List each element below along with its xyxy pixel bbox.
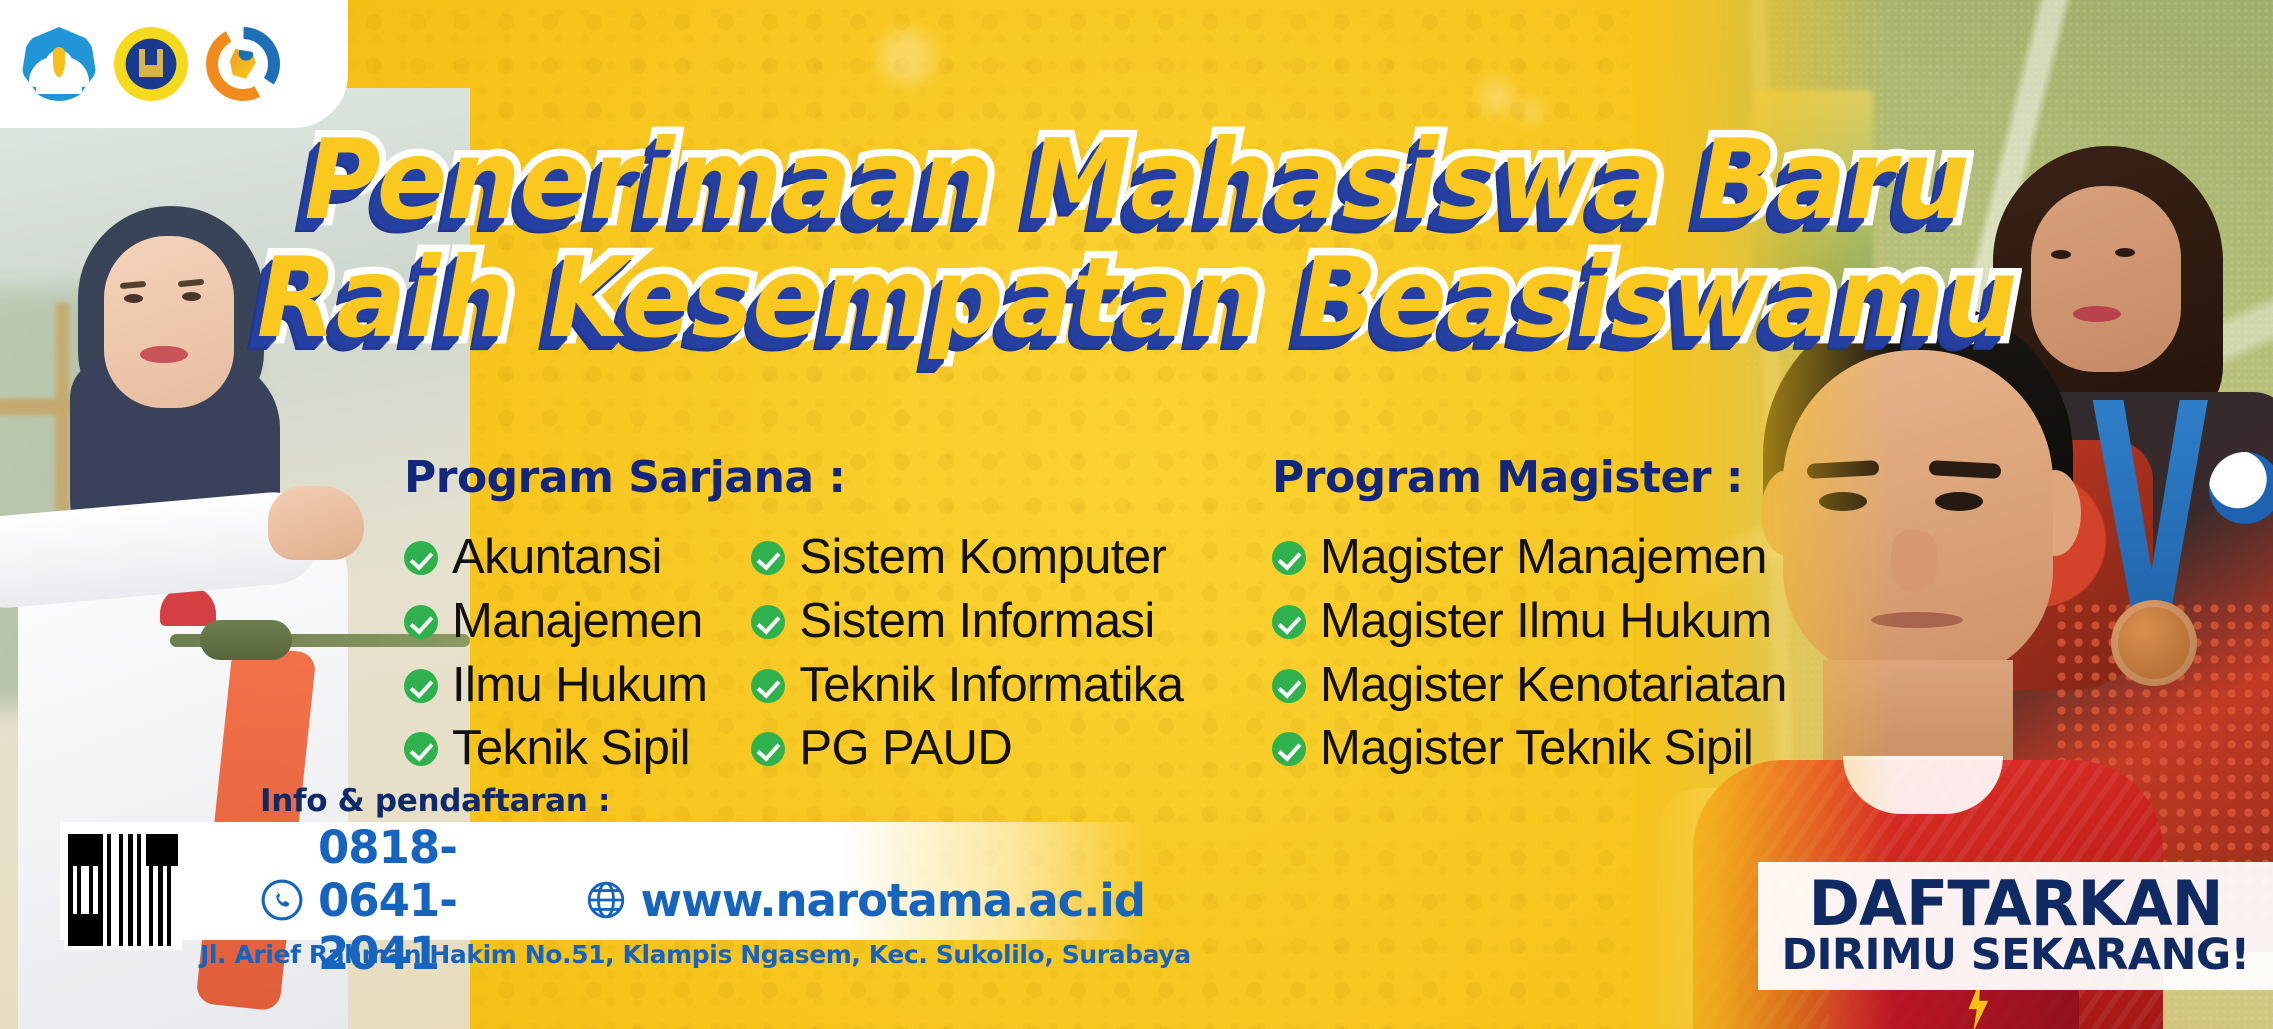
program-label: PG PAUD bbox=[799, 720, 1012, 778]
list-item: Sistem Komputer bbox=[751, 529, 1183, 587]
list-item: PG PAUD bbox=[751, 720, 1183, 778]
list-item: Akuntansi bbox=[404, 529, 707, 587]
sarjana-column-1: Akuntansi Manajemen Ilmu Hukum Teknik Si… bbox=[404, 529, 707, 784]
program-label: Sistem Informasi bbox=[799, 593, 1154, 651]
list-item: Sistem Informasi bbox=[751, 593, 1183, 651]
check-icon bbox=[404, 669, 438, 703]
program-magister-title: Program Magister : bbox=[1272, 452, 1787, 503]
program-label: Teknik Informatika bbox=[799, 657, 1183, 715]
contact-panel: Info & pendaftaran : 0818-0641-2041 bbox=[60, 822, 1145, 940]
program-sarjana-title: Program Sarjana : bbox=[404, 452, 1183, 503]
website-url[interactable]: www.narotama.ac.id bbox=[641, 874, 1145, 927]
check-icon bbox=[1272, 732, 1306, 766]
check-icon bbox=[1272, 541, 1306, 575]
cta-badge[interactable]: DAFTARKAN DIRIMU SEKARANG! bbox=[1758, 862, 2273, 990]
program-label: Akuntansi bbox=[452, 529, 662, 587]
universitas-narotama-icon bbox=[114, 27, 188, 101]
list-item: Ilmu Hukum bbox=[404, 657, 707, 715]
list-item: Teknik Informatika bbox=[751, 657, 1183, 715]
program-magister-section: Program Magister : Magister Manajemen Ma… bbox=[1272, 452, 1787, 784]
check-icon bbox=[751, 605, 785, 639]
program-label: Manajemen bbox=[452, 593, 703, 651]
program-label: Teknik Sipil bbox=[452, 720, 690, 778]
program-label: Sistem Komputer bbox=[799, 529, 1166, 587]
qr-code[interactable] bbox=[64, 830, 182, 950]
program-label: Magister Teknik Sipil bbox=[1320, 720, 1753, 778]
cta-line-1: DAFTARKAN bbox=[1809, 874, 2223, 934]
check-icon bbox=[404, 605, 438, 639]
program-label: Magister Manajemen bbox=[1320, 529, 1767, 587]
globe-icon[interactable] bbox=[585, 879, 627, 921]
list-item: Magister Teknik Sipil bbox=[1272, 720, 1787, 778]
list-item: Teknik Sipil bbox=[404, 720, 707, 778]
check-icon bbox=[751, 541, 785, 575]
institution-logos bbox=[0, 0, 348, 128]
list-item: Manajemen bbox=[404, 593, 707, 651]
check-icon bbox=[751, 732, 785, 766]
cta-line-2: DIRIMU SEKARANG! bbox=[1781, 933, 2249, 978]
check-icon bbox=[1272, 605, 1306, 639]
magister-list: Magister Manajemen Magister Ilmu Hukum M… bbox=[1272, 529, 1787, 778]
list-item: Magister Ilmu Hukum bbox=[1272, 593, 1787, 651]
program-sarjana-section: Program Sarjana : Akuntansi Manajemen Il… bbox=[404, 452, 1183, 784]
list-item: Magister Manajemen bbox=[1272, 529, 1787, 587]
info-label: Info & pendaftaran : bbox=[260, 783, 1145, 819]
program-label: Ilmu Hukum bbox=[452, 657, 707, 715]
sarjana-column-2: Sistem Komputer Sistem Informasi Teknik … bbox=[751, 529, 1183, 784]
check-icon bbox=[751, 669, 785, 703]
program-label: Magister Kenotariatan bbox=[1320, 657, 1787, 715]
diktisaintek-berdampak-icon bbox=[206, 27, 280, 101]
check-icon bbox=[404, 732, 438, 766]
list-item: Magister Kenotariatan bbox=[1272, 657, 1787, 715]
whatsapp-icon[interactable] bbox=[260, 878, 304, 922]
check-icon bbox=[1272, 669, 1306, 703]
check-icon bbox=[404, 541, 438, 575]
program-label: Magister Ilmu Hukum bbox=[1320, 593, 1772, 651]
address-text: Jl. Arief Rahman Hakim No.51, Klampis Ng… bbox=[200, 940, 1191, 969]
promo-banner: Penerimaan Mahasiswa Baru Raih Kesempata… bbox=[0, 0, 2273, 1029]
tut-wuri-handayani-icon bbox=[22, 27, 96, 101]
